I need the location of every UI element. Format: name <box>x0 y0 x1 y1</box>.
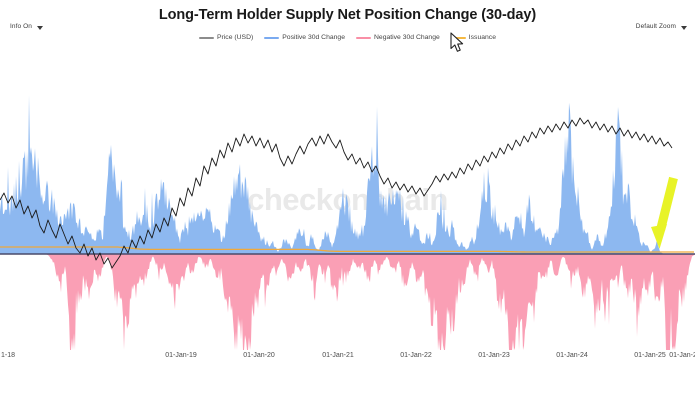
legend-swatch-price <box>199 37 214 39</box>
legend-item-positive[interactable]: Positive 30d Change <box>264 34 345 41</box>
zoom-preset-control[interactable]: Default Zoom <box>636 23 687 30</box>
chart-canvas <box>0 48 695 350</box>
x-axis-tick-label: 01-Jan-26 <box>669 352 695 359</box>
legend-swatch-negative <box>356 37 371 39</box>
x-axis-tick-label: 01-Jan-20 <box>243 352 275 359</box>
x-axis-tick-label: 01-Jan-21 <box>322 352 354 359</box>
legend-item-price[interactable]: Price (USD) <box>199 34 253 41</box>
legend-item-negative[interactable]: Negative 30d Change <box>356 34 440 41</box>
x-axis-tick-label: 01-Jan-23 <box>478 352 510 359</box>
legend-label-issuance: Issuance <box>469 34 496 41</box>
legend-label-positive: Positive 30d Change <box>282 34 345 41</box>
x-axis-tick-label: 01-Jan-19 <box>165 352 197 359</box>
legend-item-issuance[interactable]: Issuance <box>451 34 496 41</box>
legend-swatch-positive <box>264 37 279 39</box>
x-axis-tick-label: 01-Jan-24 <box>556 352 588 359</box>
negative-change-area <box>0 254 695 350</box>
chart-page: Info On Default Zoom Long-Term Holder Su… <box>0 0 695 401</box>
positive-change-area <box>0 95 695 254</box>
page-title: Long-Term Holder Supply Net Position Cha… <box>0 7 695 23</box>
info-toggle-label: Info On <box>10 23 32 30</box>
legend-label-negative: Negative 30d Change <box>374 34 440 41</box>
zoom-preset-label: Default Zoom <box>636 23 676 30</box>
negative-change-path <box>0 254 695 350</box>
chart-plot-area[interactable] <box>0 48 695 350</box>
x-axis-tick-label: 1-18 <box>1 352 15 359</box>
positive-change-path <box>0 95 695 254</box>
x-axis-tick-label: 01-Jan-22 <box>400 352 432 359</box>
chart-legend: Price (USD) Positive 30d Change Negative… <box>0 34 695 41</box>
chevron-down-icon <box>681 26 687 30</box>
legend-label-price: Price (USD) <box>217 34 253 41</box>
legend-swatch-issuance <box>451 37 466 39</box>
info-toggle-control[interactable]: Info On <box>10 23 43 30</box>
chevron-down-icon <box>37 26 43 30</box>
x-axis: 1-1801-Jan-1901-Jan-2001-Jan-2101-Jan-22… <box>0 352 695 368</box>
x-axis-tick-label: 01-Jan-25 <box>634 352 666 359</box>
